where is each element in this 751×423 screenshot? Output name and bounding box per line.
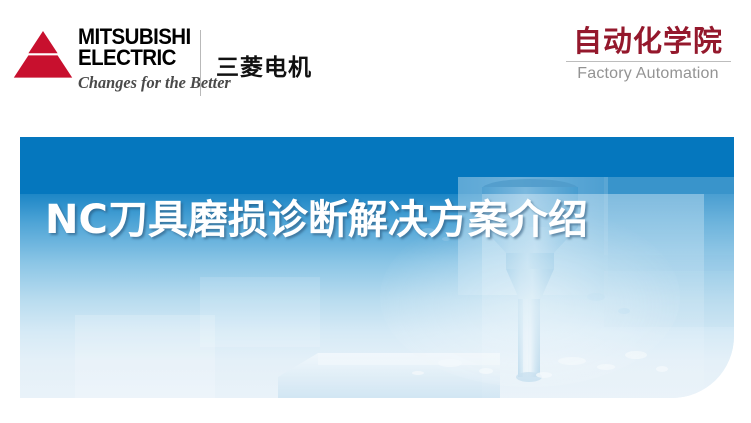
- brand-tagline: Changes for the Better: [78, 73, 231, 92]
- brand-name-line1: MITSUBISHI: [78, 26, 226, 47]
- mitsubishi-electric-logo: MITSUBISHI ELECTRIC Changes for the Bett…: [12, 26, 237, 92]
- mitsubishi-three-diamonds-icon: [12, 30, 74, 80]
- banner-light-panel-secondary: [75, 315, 215, 398]
- brand-name-line2: ELECTRIC: [78, 47, 226, 68]
- factory-automation-academy-logo: 自动化学院 Factory Automation: [563, 24, 733, 84]
- academy-rule: [566, 61, 731, 62]
- title-banner: NC刀具磨损诊断解决方案介绍: [20, 137, 734, 398]
- slide-canvas: MITSUBISHI ELECTRIC Changes for the Bett…: [0, 0, 751, 423]
- brand-name-chinese: 三菱电机: [216, 55, 312, 81]
- header-divider: [200, 30, 201, 96]
- brand-wordmark: MITSUBISHI ELECTRIC Changes for the Bett…: [78, 26, 237, 92]
- slide-header: MITSUBISHI ELECTRIC Changes for the Bett…: [0, 0, 751, 130]
- academy-title-english: Factory Automation: [563, 64, 733, 84]
- academy-title-chinese: 自动化学院: [563, 24, 733, 58]
- slide-title: NC刀具磨损诊断解决方案介绍: [45, 195, 588, 245]
